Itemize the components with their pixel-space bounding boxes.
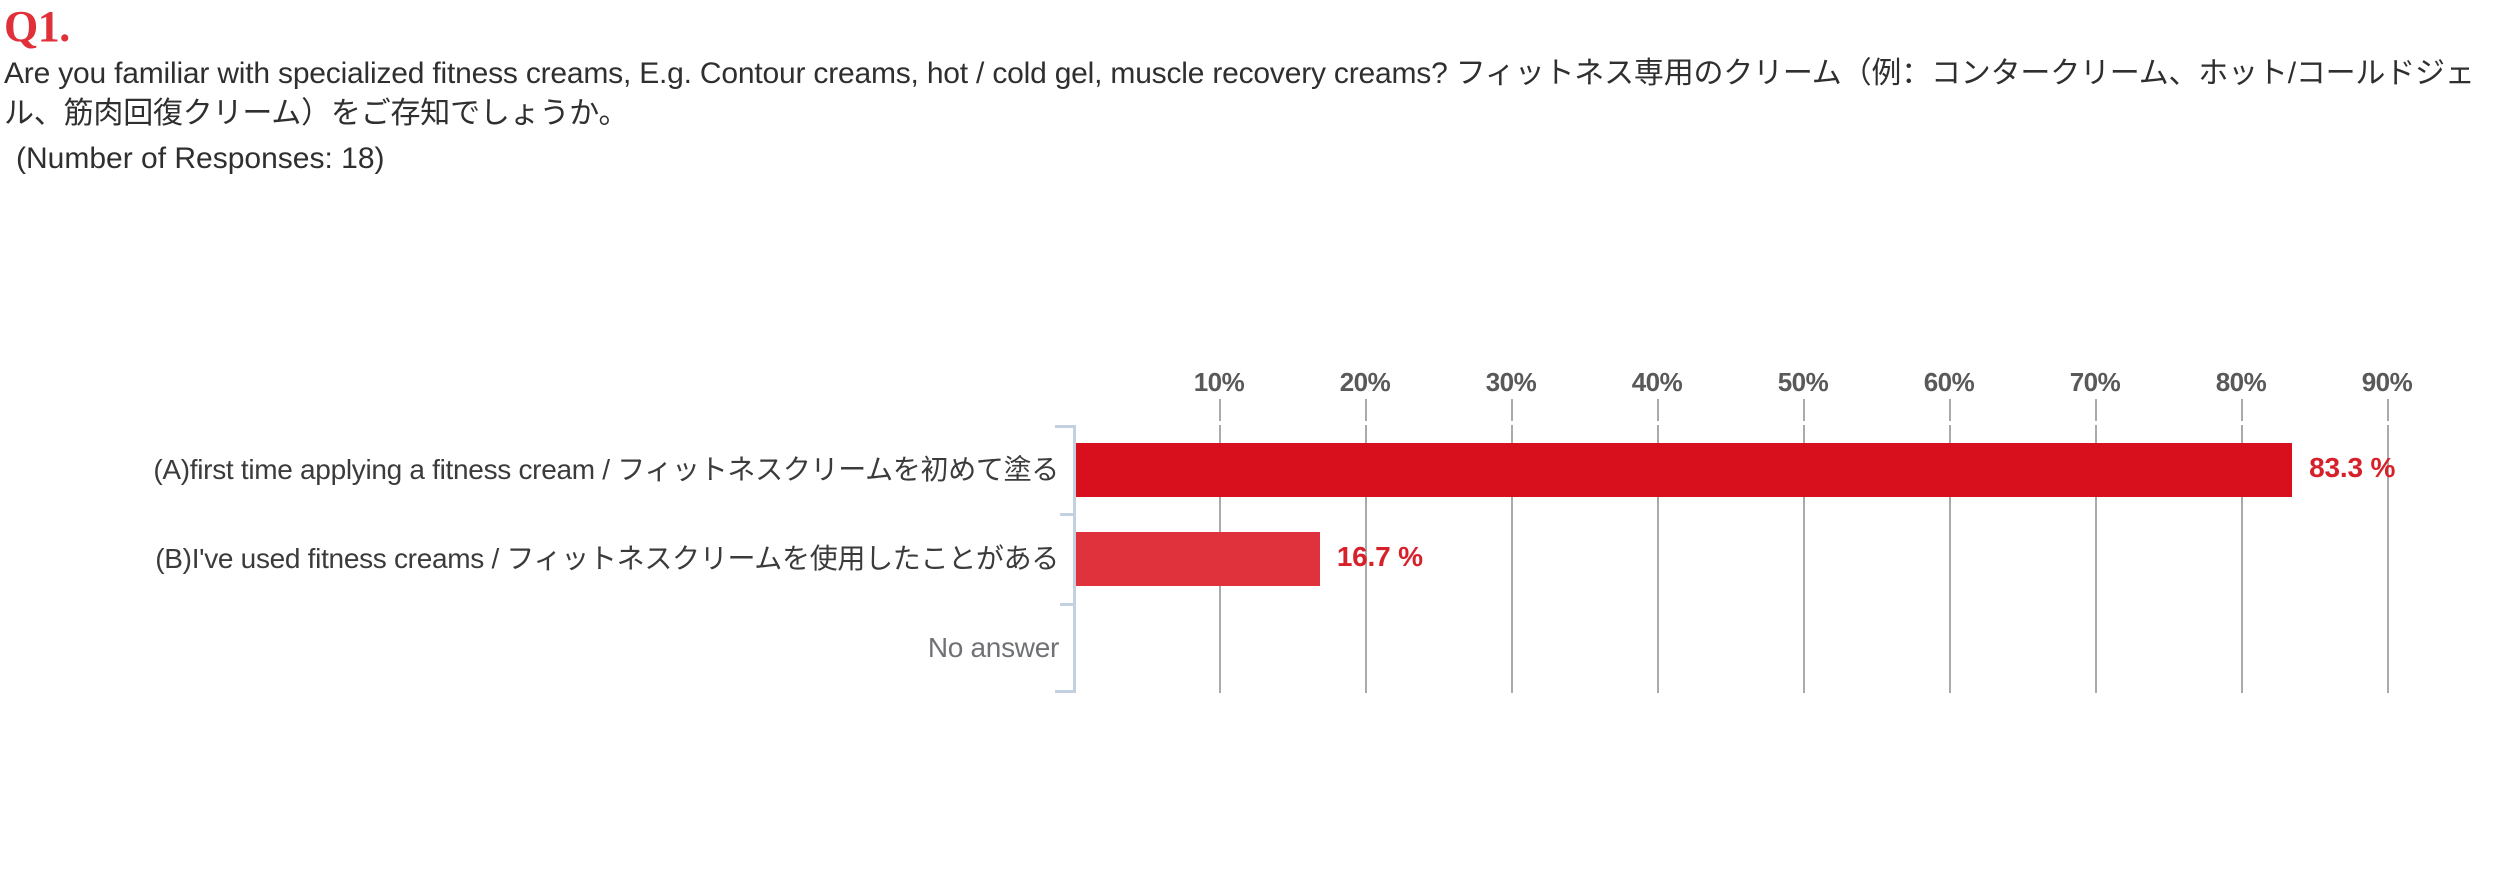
bar[interactable] — [1076, 532, 1320, 586]
y-axis-cap-bottom — [1055, 690, 1073, 693]
x-axis-tick — [1949, 399, 1951, 421]
x-axis-tick — [1657, 399, 1659, 421]
x-axis-tick-label: 80% — [2216, 367, 2267, 398]
x-axis-tick-label: 60% — [1924, 367, 1975, 398]
x-axis-tick-label: 10% — [1194, 367, 1245, 398]
response-count: (Number of Responses: 18) — [0, 134, 2506, 179]
x-axis-tick-label: 90% — [2362, 367, 2413, 398]
bar-value-label: 83.3 % — [2309, 452, 2395, 484]
x-axis-tick — [2241, 399, 2243, 421]
category-label: (A)first time applying a fitness cream /… — [153, 453, 1059, 487]
x-axis-tick — [1511, 399, 1513, 421]
bar[interactable] — [1076, 443, 2292, 497]
plot-area: 10%20%30%40%50%60%70%80%90%83.3 %16.7 % — [1073, 425, 2506, 693]
x-axis-tick — [2387, 399, 2389, 421]
question-number: Q1. — [0, 0, 2506, 50]
y-axis-tick — [1060, 513, 1073, 516]
x-axis-tick-label: 40% — [1632, 367, 1683, 398]
question-text: Are you familiar with specialized fitnes… — [0, 50, 2506, 134]
x-axis-tick-label: 70% — [2070, 367, 2121, 398]
x-axis-tick — [1219, 399, 1221, 421]
category-label: No answer — [928, 631, 1059, 665]
x-axis-tick — [1803, 399, 1805, 421]
x-axis-tick — [1365, 399, 1367, 421]
question-header: Q1. Are you familiar with specialized fi… — [0, 0, 2506, 179]
y-axis-tick — [1060, 603, 1073, 606]
x-axis-tick — [2095, 399, 2097, 421]
bar-value-label: 16.7 % — [1337, 541, 1423, 573]
x-axis-tick-label: 30% — [1486, 367, 1537, 398]
x-axis-tick-label: 20% — [1340, 367, 1391, 398]
y-axis-cap-top — [1055, 425, 1073, 428]
bar-chart: 10%20%30%40%50%60%70%80%90%83.3 %16.7 % — [0, 300, 2506, 760]
x-axis-tick-label: 50% — [1778, 367, 1829, 398]
category-label: (B)I've used fitness creams / フィットネスクリーム… — [155, 542, 1059, 576]
